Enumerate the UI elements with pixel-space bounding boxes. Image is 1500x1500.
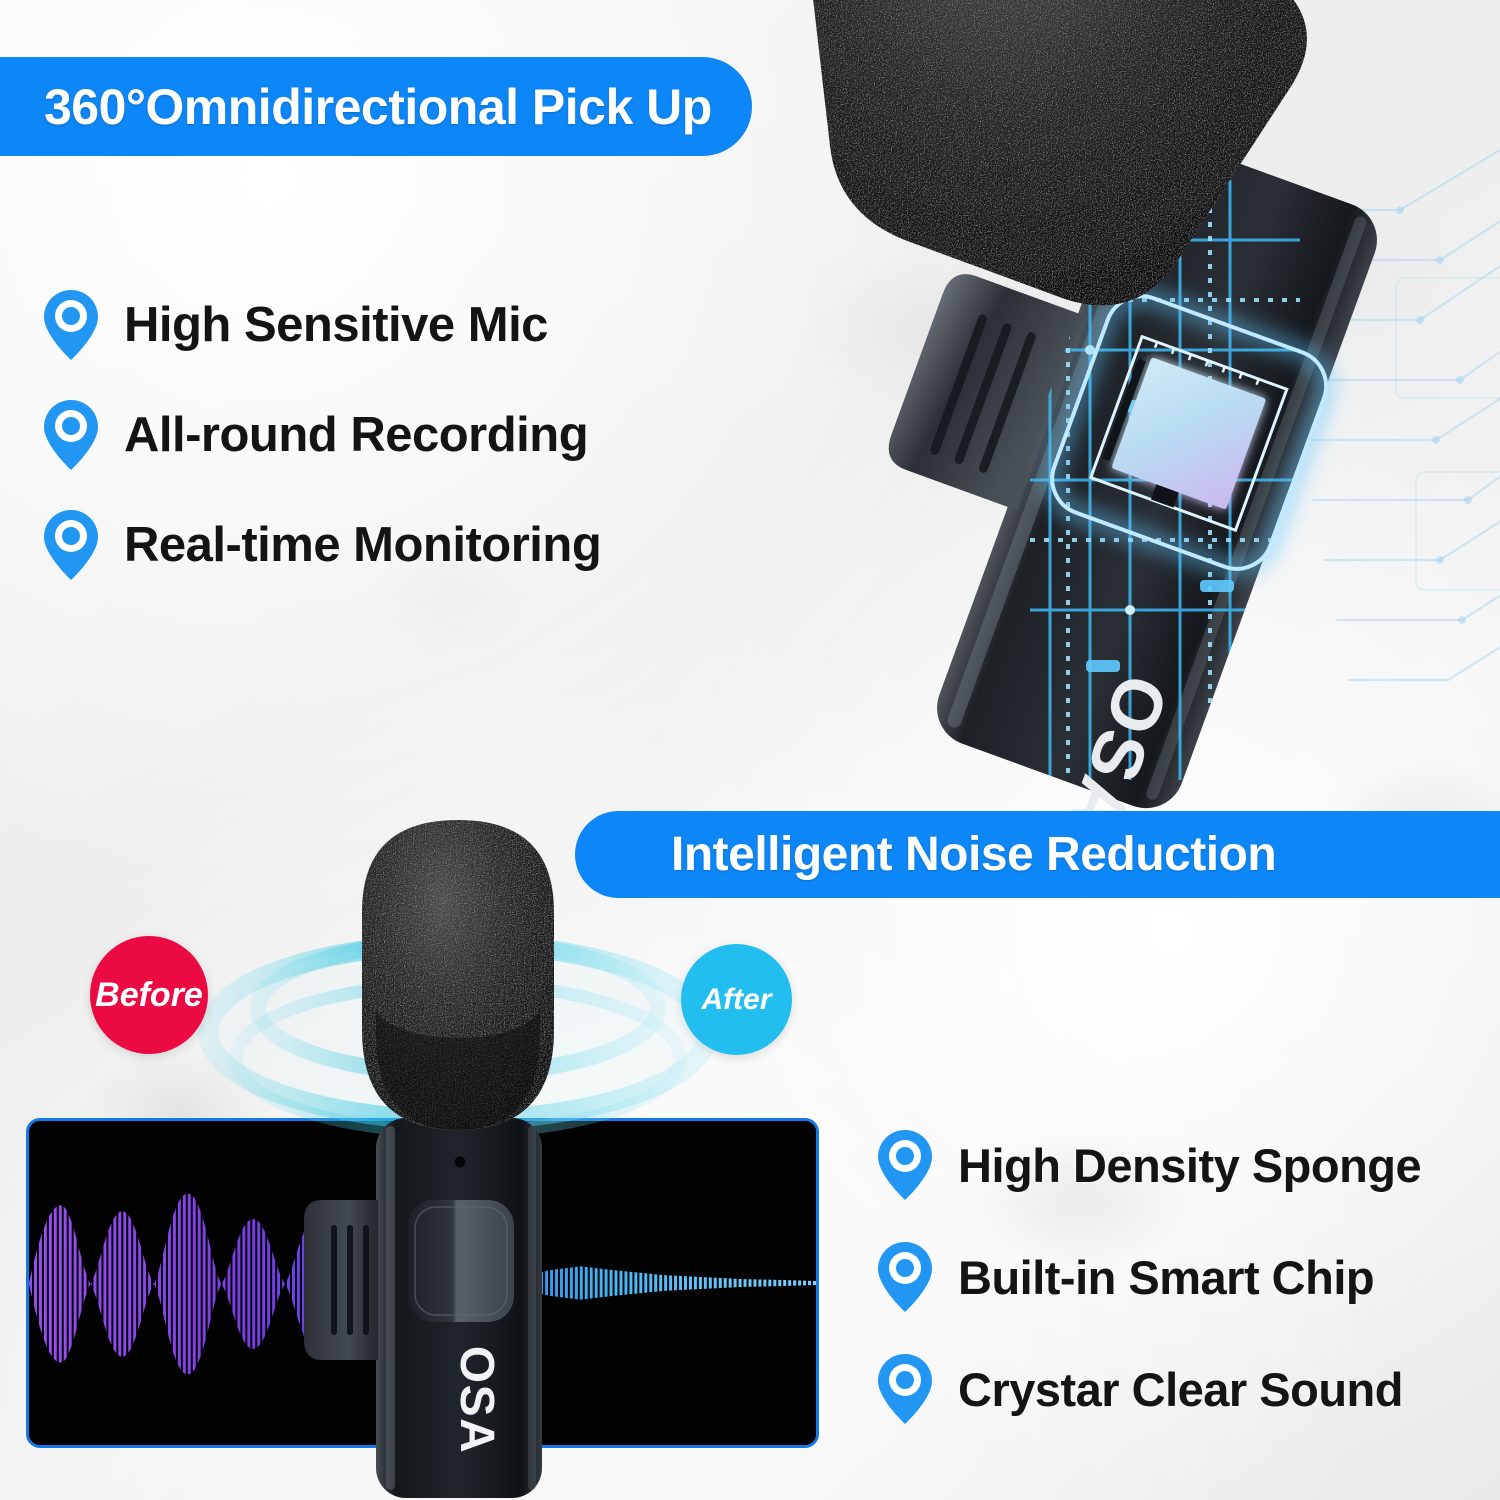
feature-item: High Sensitive Mic — [42, 288, 601, 362]
product-feature-graphic: OSA 360°Omnidirectional Pick Up High Sen… — [0, 0, 1500, 1500]
microphone-top-illustration: OSA — [800, 0, 1500, 840]
feature-list-bottom: High Density Sponge Built-in Smart Chip — [876, 1128, 1421, 1464]
feature-label: All-round Recording — [124, 411, 588, 460]
location-pin-icon — [876, 1352, 934, 1426]
circuit-outline-background — [1396, 278, 1500, 590]
brand-logo-bottom-text: OSA — [450, 1346, 503, 1455]
circuit-nodes-background — [1396, 206, 1472, 624]
microphone-clip-bottom — [304, 1200, 378, 1360]
feature-item: Real-time Monitoring — [42, 508, 601, 582]
location-pin-icon — [42, 398, 100, 472]
location-pin-icon — [876, 1128, 934, 1202]
feature-label: Crystar Clear Sound — [958, 1366, 1403, 1413]
feature-item: Crystar Clear Sound — [876, 1352, 1421, 1426]
location-pin-icon — [876, 1240, 934, 1314]
feature-item: High Density Sponge — [876, 1128, 1421, 1202]
feature-label: High Sensitive Mic — [124, 301, 548, 350]
badge-after: After — [681, 944, 792, 1055]
led-indicator — [455, 1157, 466, 1168]
location-pin-icon — [42, 288, 100, 362]
feature-label: Real-time Monitoring — [124, 521, 601, 570]
feature-item: All-round Recording — [42, 398, 601, 472]
location-pin-icon — [42, 508, 100, 582]
feature-label: Built-in Smart Chip — [958, 1254, 1374, 1301]
feature-list-top: High Sensitive Mic All-round Recording — [42, 288, 601, 618]
feature-item: Built-in Smart Chip — [876, 1240, 1421, 1314]
mic-button — [408, 1200, 514, 1322]
foam-windscreen-bottom — [362, 820, 554, 1130]
badge-before: Before — [90, 936, 208, 1054]
microphone-body-bottom: OSA — [376, 1118, 542, 1498]
feature-label: High Density Sponge — [958, 1142, 1421, 1189]
banner-omnidirectional-pickup: 360°Omnidirectional Pick Up — [0, 57, 752, 156]
banner-noise-reduction: Intelligent Noise Reduction — [575, 811, 1500, 898]
microphone-bottom-illustration: OSA — [180, 800, 740, 1500]
